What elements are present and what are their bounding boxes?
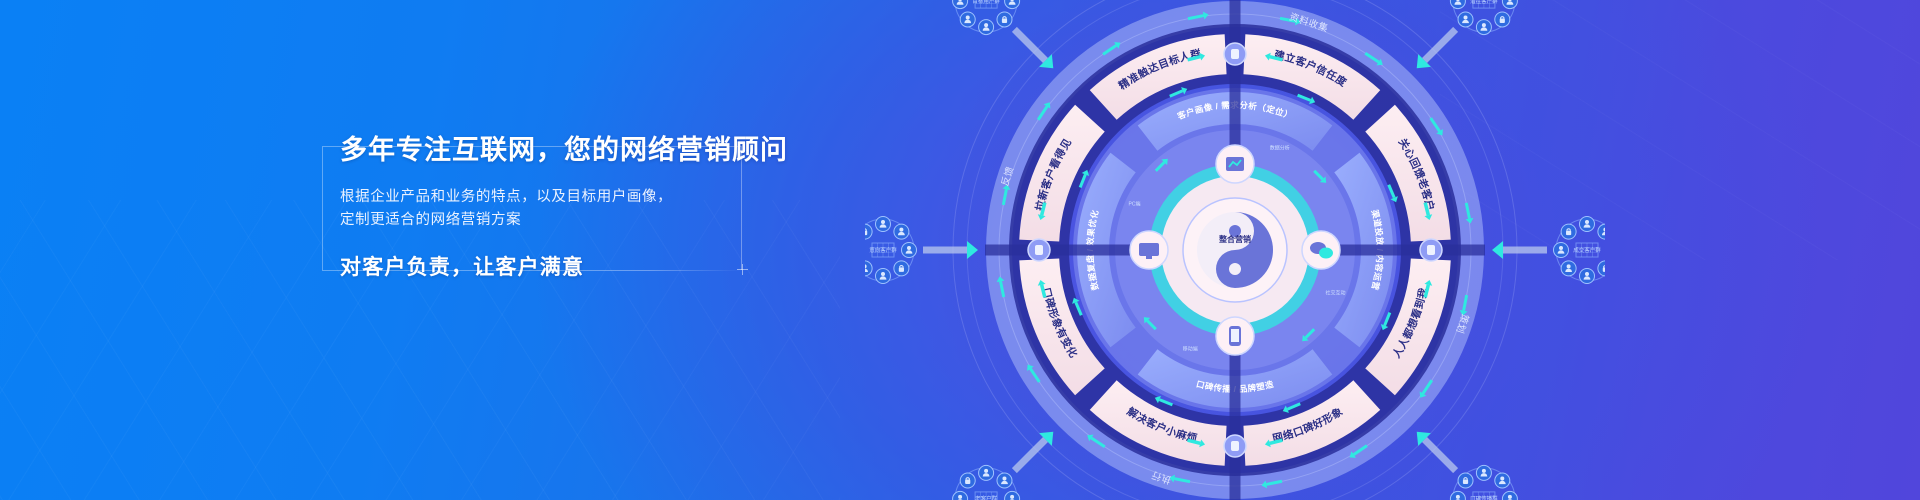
person-icon xyxy=(1502,491,1517,500)
person-icon xyxy=(1502,0,1517,9)
person-icon xyxy=(1427,245,1435,255)
cluster-label: 潜在客户群 xyxy=(1470,0,1498,5)
person-icon xyxy=(953,491,968,500)
person-icon xyxy=(1458,12,1473,27)
person-icon xyxy=(997,473,1012,488)
lock-icon xyxy=(997,12,1012,27)
wheel-svg: 建立客户信任度关心回馈老客户人人都想看到我网络口碑好形象解决客户小麻烦口碑形象有… xyxy=(865,0,1605,500)
lock-icon xyxy=(1598,261,1605,276)
lock-icon xyxy=(1561,224,1576,239)
person-icon xyxy=(1035,245,1043,255)
person-icon xyxy=(1231,441,1239,451)
yinyang-icon xyxy=(1197,212,1273,288)
person-icon xyxy=(1495,473,1510,488)
hub-node-label: 社交互动 xyxy=(1325,290,1345,297)
cluster-label: 目标用户群 xyxy=(972,0,1000,5)
lock-icon xyxy=(1495,12,1510,27)
lock-icon xyxy=(960,473,975,488)
hub-node-label: PC端 xyxy=(1129,200,1141,207)
page-title: 多年专注互联网，您的网络营销顾问 xyxy=(340,134,810,168)
subtitle-line-2: 定制更适合的网络营销方案 xyxy=(340,209,810,232)
mobile-icon xyxy=(1229,326,1241,346)
hub-node-label: 移动端 xyxy=(1183,345,1198,352)
hero-banner: 多年专注互联网，您的网络营销顾问 根据企业产品和业务的特点，以及目标用户画像， … xyxy=(0,0,1920,500)
person-icon xyxy=(894,224,909,239)
person-icon xyxy=(979,465,994,480)
hero-tagline: 对客户负责，让客户满意 xyxy=(340,251,810,281)
person-icon xyxy=(960,12,975,27)
satellite-cluster[interactable]: 潜在客户群 xyxy=(1450,0,1517,35)
person-icon xyxy=(953,0,968,9)
person-icon xyxy=(1005,0,1020,9)
hero-copy: 多年专注互联网，您的网络营销顾问 根据企业产品和业务的特点，以及目标用户画像， … xyxy=(340,134,810,281)
chart-icon xyxy=(1226,157,1244,171)
person-icon xyxy=(1450,0,1465,9)
person-icon xyxy=(1005,491,1020,500)
hub-label: 整合营销 xyxy=(1218,234,1251,244)
person-icon xyxy=(1554,243,1569,258)
satellite-cluster[interactable]: 口碑传播群 xyxy=(1450,465,1517,500)
subtitle-line-1: 根据企业产品和业务的特点，以及目标用户画像， xyxy=(340,186,810,209)
hero-subtitle: 根据企业产品和业务的特点，以及目标用户画像， 定制更适合的网络营销方案 xyxy=(340,186,810,233)
person-icon xyxy=(876,217,891,232)
person-icon xyxy=(876,269,891,284)
cluster-label: 成交客户群 xyxy=(1573,246,1601,254)
person-icon xyxy=(1231,49,1239,59)
person-icon xyxy=(979,20,994,35)
satellite-cluster[interactable]: 目标用户群 xyxy=(953,0,1020,35)
satellite-cluster[interactable]: 成交客户群 xyxy=(1554,217,1606,284)
lock-icon xyxy=(1458,473,1473,488)
satellite-cluster[interactable]: 老客户群 xyxy=(953,465,1020,500)
person-icon xyxy=(1476,465,1491,480)
hub-node-label: 数据分析 xyxy=(1270,145,1290,152)
person-icon xyxy=(1580,217,1595,232)
lock-icon xyxy=(894,261,909,276)
person-icon xyxy=(1561,261,1576,276)
satellite-cluster[interactable]: 意向客户群 xyxy=(865,217,917,284)
person-icon xyxy=(1580,269,1595,284)
network-marketing-wheel: 建立客户信任度关心回馈老客户人人都想看到我网络口碑好形象解决客户小麻烦口碑形象有… xyxy=(865,0,1605,500)
person-icon xyxy=(1598,224,1605,239)
person-icon xyxy=(902,243,917,258)
wheel-hub: 整合营销 xyxy=(1149,164,1321,336)
person-icon xyxy=(1476,20,1491,35)
lock-icon xyxy=(865,224,872,239)
person-icon xyxy=(865,261,872,276)
cluster-label: 意向客户群 xyxy=(869,246,897,254)
person-icon xyxy=(1450,491,1465,500)
